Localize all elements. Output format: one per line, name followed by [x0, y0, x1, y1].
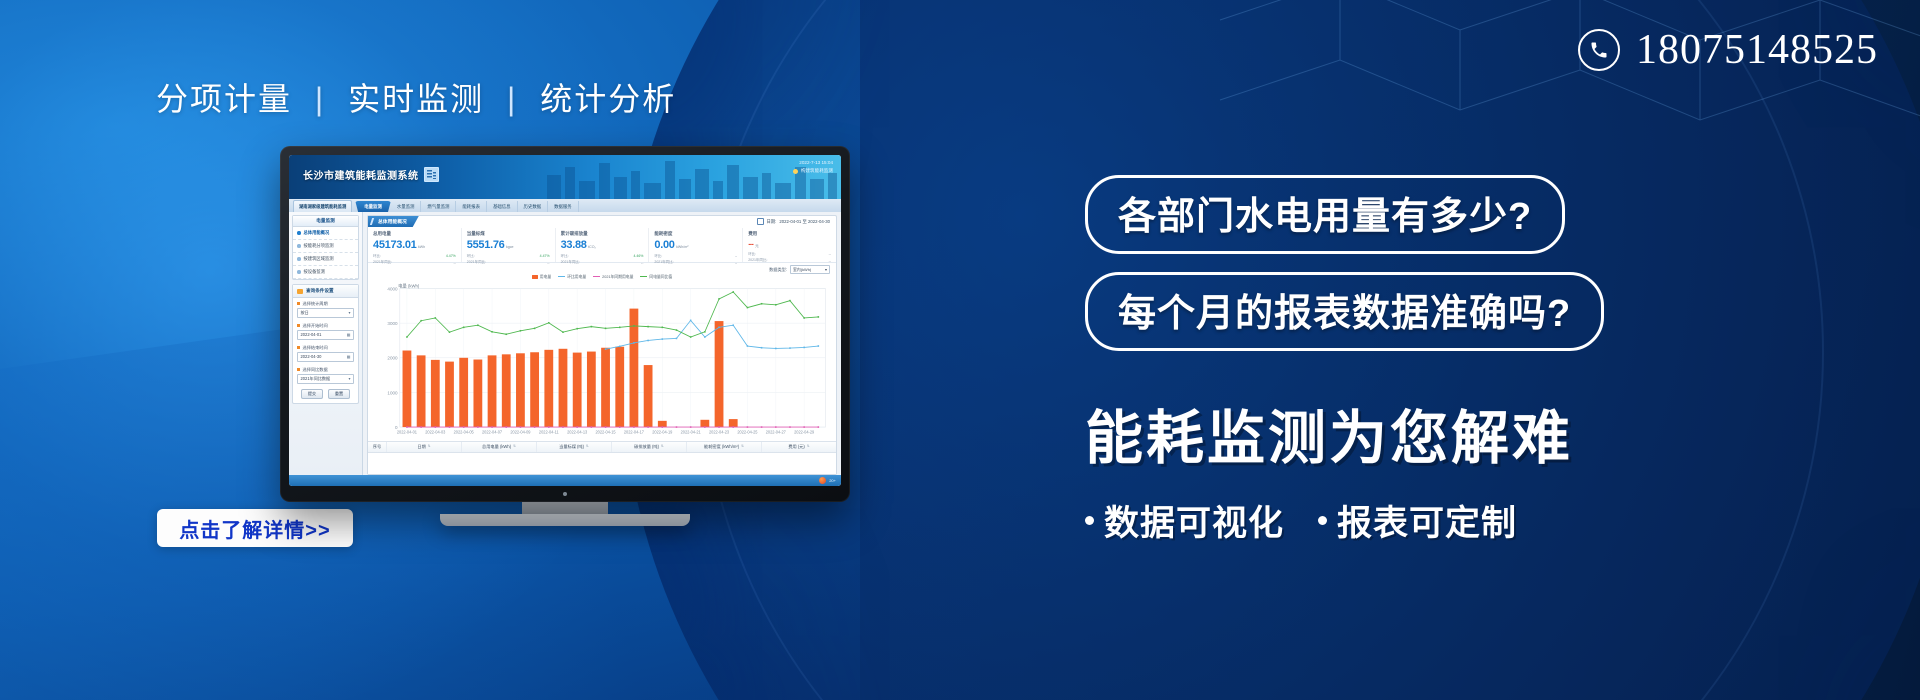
power-led-icon	[563, 492, 567, 496]
query-label-end: 选择结束时间	[293, 342, 358, 352]
kpi-ring-label: 环比:	[561, 254, 569, 259]
kpi-title: 当量标煤	[467, 231, 550, 237]
svg-text:2022-04-29: 2022-04-29	[794, 429, 815, 434]
query-settings-title: 查询条件设置	[293, 285, 358, 298]
chart-svg: 01000200030004000电量 (kWh)2022-04-012022-…	[374, 282, 830, 445]
sidebar-item-overview[interactable]: 总体用能概况	[293, 227, 358, 240]
bullet-icon	[297, 244, 301, 248]
chart-datatype-label: 数据类型:	[769, 267, 787, 273]
kpi-value: 45173.01	[373, 239, 416, 251]
kpi-ring-value: --	[735, 254, 737, 258]
slogan-item-0: 分项计量	[156, 81, 292, 117]
svg-text:2022-04-19: 2022-04-19	[652, 429, 673, 434]
svg-text:2022-04-05: 2022-04-05	[454, 429, 475, 434]
calendar-icon: ▦	[347, 354, 351, 359]
query-label-text: 选择统计周期	[303, 301, 328, 307]
legend-swatch-line-icon	[640, 276, 647, 277]
kpi-card-standard-coal: 当量标煤 5551.76kgce 环比:4.47% 2021年同比:--	[462, 228, 556, 262]
svg-text:2022-04-09: 2022-04-09	[510, 429, 531, 434]
table-header-label: 能耗密度 (kWh/m²)	[704, 444, 739, 450]
app-sidebar: 电量监测 总体用能概况 按能耗分项监测	[289, 212, 363, 475]
chevron-down-icon: ▾	[348, 310, 350, 315]
panel-date-range[interactable]: 日期: 2022-04-01 至 2022-04-30	[757, 218, 830, 225]
flag-icon	[297, 289, 303, 294]
table-header-label: 当量标煤 (吨)	[559, 444, 584, 450]
reset-button[interactable]: 重置	[328, 389, 350, 399]
query-value-text: 2022-04-30	[301, 354, 322, 359]
kpi-ring-label: 环比:	[373, 254, 381, 259]
monitor-screen: 长沙市建筑能耗监测系统 2022-7-13 15:04 构建筑能耗监测	[289, 155, 841, 486]
phone-icon	[1578, 29, 1620, 71]
panel-date-label: 日期:	[767, 219, 777, 225]
svg-text:2022-04-23: 2022-04-23	[709, 429, 730, 434]
table-header-label: 费用 (元)	[788, 444, 805, 450]
headline: 能耗监测为您解难	[1085, 391, 1875, 475]
legend-swatch-line-icon	[558, 276, 565, 277]
banner-slogan: 分项计量 | 实时监测 | 统计分析	[156, 74, 676, 120]
table-header-cell[interactable]: 序号	[368, 442, 387, 452]
legend-item-3[interactable]: 同电量同比值	[640, 275, 672, 280]
kpi-value: 5551.76	[467, 239, 505, 251]
query-label-period: 选择统计周期	[293, 298, 358, 308]
svg-text:电量 (kWh): 电量 (kWh)	[398, 283, 420, 290]
kpi-unit: 元	[755, 244, 759, 249]
table-header-label: 日期	[417, 444, 425, 450]
svg-text:2022-04-01: 2022-04-01	[397, 429, 418, 434]
kpi-card-energy-density: 能耗密度 0.00kWh/m² 环比:-- 2021年同比:--	[649, 228, 743, 262]
query-label-text: 选择结束时间	[303, 345, 328, 351]
learn-more-button[interactable]: 点击了解详情>>	[157, 509, 353, 547]
query-select-yoy[interactable]: 2021年同比数据 ▾	[297, 374, 354, 384]
table-header-label: 序号	[373, 444, 381, 450]
slogan-item-2: 统计分析	[540, 81, 676, 117]
svg-text:3000: 3000	[387, 321, 397, 327]
query-label-text: 选择开始时间	[303, 323, 328, 329]
user-icon	[793, 169, 798, 174]
contact-phone[interactable]: 18075148525	[1578, 26, 1878, 74]
kpi-title: 费用	[748, 231, 831, 237]
bullet-1: 报表可定制	[1318, 495, 1517, 546]
kpi-title: 能耗密度	[654, 231, 737, 237]
header-user-text: 构建筑能耗监测	[801, 167, 833, 175]
sidebar-item-label: 按能耗分项监测	[304, 243, 334, 249]
app-header: 长沙市建筑能耗监测系统 2022-7-13 15:04 构建筑能耗监测	[289, 155, 841, 199]
chart-datatype-select[interactable]: 室内(kWh) ▾	[790, 265, 830, 274]
nav-tab-history[interactable]: 历史数据	[518, 201, 549, 212]
query-value-text: 按日	[301, 310, 309, 316]
nav-tab-gas[interactable]: 燃气量监测	[421, 201, 456, 212]
svg-text:2022-04-27: 2022-04-27	[766, 429, 787, 434]
phone-number: 18075148525	[1636, 26, 1878, 74]
table-header-cell[interactable]: 日期⇅	[387, 442, 462, 452]
query-settings-card: 查询条件设置 选择统计周期 按日 ▾	[292, 284, 359, 404]
sidebar-menu-card: 电量监测 总体用能概况 按能耗分项监测	[292, 215, 359, 280]
kpi-title: 累计碳排放量	[561, 231, 644, 237]
chart-area: 数据类型: 室内(kWh) ▾ 用电量 环比用电量	[368, 263, 836, 442]
slogan-separator-0: |	[315, 81, 325, 118]
right-copy-block: 各部门水电用量有多少? 每个月的报表数据准确吗? 能耗监测为您解难 数据可视化 …	[1085, 175, 1875, 546]
query-settings-label: 查询条件设置	[306, 288, 334, 294]
square-bullet-icon	[297, 368, 300, 371]
sort-arrows-icon[interactable]: ⇅	[428, 445, 431, 448]
sort-arrows-icon[interactable]: ⇅	[513, 445, 516, 448]
app-title: 长沙市建筑能耗监测系统	[303, 167, 439, 182]
bullet-icon	[297, 270, 301, 274]
query-input-start-date[interactable]: 2022-04-01 ▦	[297, 330, 354, 340]
kpi-ring-label: 环比:	[467, 254, 475, 259]
energy-monitoring-app: 长沙市建筑能耗监测系统 2022-7-13 15:04 构建筑能耗监测	[289, 155, 841, 486]
square-bullet-icon	[297, 302, 300, 305]
table-header-cell[interactable]: 能耗密度 (kWh/m²)⇅	[687, 442, 762, 452]
svg-text:2000: 2000	[387, 356, 397, 362]
query-select-period[interactable]: 按日 ▾	[297, 308, 354, 318]
legend-item-0[interactable]: 用电量	[532, 275, 551, 280]
nav-tab-water[interactable]: 水量监测	[391, 201, 422, 212]
calendar-icon	[757, 218, 764, 225]
monitor-mockup: 长沙市建筑能耗监测系统 2022-7-13 15:04 构建筑能耗监测	[280, 146, 850, 502]
header-user[interactable]: 构建筑能耗监测	[793, 167, 833, 175]
table-header-cell[interactable]: 总用电量 (kWh)⇅	[462, 442, 537, 452]
legend-swatch-line-icon	[593, 276, 600, 277]
nav-brand-tab[interactable]: 湖南湖家级建筑能耗监测	[293, 200, 352, 212]
overview-panel: 总体用能概况 日期: 2022-04-01 至 2022-04-30 总用	[367, 215, 837, 475]
app-title-text: 长沙市建筑能耗监测系统	[303, 167, 419, 182]
feature-bullets: 数据可视化 报表可定制	[1085, 495, 1875, 546]
table-header-cell[interactable]: 当量标煤 (吨)⇅	[537, 442, 612, 452]
bullet-dot-icon	[1318, 516, 1327, 525]
query-label-yoy: 选择同比数据	[293, 364, 358, 374]
bullet-icon	[297, 231, 301, 235]
bullet-label-1: 报表可定制	[1337, 495, 1517, 546]
svg-text:4000: 4000	[387, 286, 397, 292]
legend-item-1[interactable]: 环比用电量	[558, 275, 586, 280]
sidebar-item-label: 按建筑区域监测	[304, 256, 334, 262]
submit-button[interactable]: 提交	[301, 389, 323, 399]
chart-toolbar: 数据类型: 室内(kWh) ▾	[374, 265, 830, 274]
query-value-text: 2021年同比数据	[301, 376, 331, 382]
legend-label: 用电量	[540, 275, 551, 279]
chart-legend: 用电量 环比用电量 2021年同期用电量 同电量同比值	[374, 275, 830, 280]
kpi-ring-label: 环比:	[748, 252, 756, 257]
bullet-label-0: 数据可视化	[1104, 495, 1284, 546]
panel-title: 总体用能概况	[368, 216, 419, 227]
sidebar-item-by-area[interactable]: 按建筑区域监测	[293, 253, 358, 266]
header-time: 2022-7-13 15:04	[793, 159, 833, 167]
kpi-unit: kWh	[418, 245, 425, 249]
chart-plot: 01000200030004000电量 (kWh)2022-04-012022-…	[374, 282, 830, 445]
app-body: 电量监测 总体用能概况 按能耗分项监测	[289, 212, 841, 475]
panel-date-value: 2022-04-01 至 2022-04-30	[779, 219, 830, 225]
bullet-icon	[297, 257, 301, 261]
kpi-unit: kgce	[506, 245, 514, 249]
query-label-text: 选择同比数据	[303, 367, 328, 373]
kpi-title: 总用电量	[373, 231, 456, 237]
kpi-value: 33.88	[561, 239, 587, 251]
legend-label: 环比用电量	[567, 275, 586, 279]
app-taskbar: 20+	[289, 475, 841, 486]
slogan-separator-1: |	[507, 81, 517, 118]
learn-more-label: 点击了解详情>>	[179, 514, 330, 543]
monitor-stand-base	[440, 514, 690, 526]
nav-tab-electricity[interactable]: 电量监测	[355, 201, 391, 212]
sidebar-section-title: 电量监测	[293, 216, 358, 227]
sidebar-item-by-category[interactable]: 按能耗分项监测	[293, 240, 358, 253]
table-header-cell[interactable]: 碳排放量 (吨)⇅	[612, 442, 687, 452]
svg-text:2022-04-07: 2022-04-07	[482, 429, 503, 434]
kpi-ring-label: 环比:	[654, 254, 662, 259]
kpi-unit: kWh/m²	[676, 245, 688, 249]
kpi-yoy-value: --	[829, 259, 831, 263]
monitor-chin	[280, 486, 850, 502]
nav-tab-data-service[interactable]: 数据服务	[548, 201, 579, 212]
kpi-value: 0.00	[654, 239, 674, 251]
table-body	[368, 453, 836, 465]
query-label-start: 选择开始时间	[293, 320, 358, 330]
sidebar-item-by-device[interactable]: 按设备监测	[293, 266, 358, 279]
app-main: 总体用能概况 日期: 2022-04-01 至 2022-04-30 总用	[363, 212, 841, 475]
legend-label: 2021年同期用电量	[602, 275, 633, 279]
browser-icon[interactable]	[819, 477, 826, 484]
monitor-bezel: 长沙市建筑能耗监测系统 2022-7-13 15:04 构建筑能耗监测	[280, 146, 850, 502]
kpi-card-total-electricity: 总用电量 45173.01kWh 环比:4.47% 2021年同比:--	[368, 228, 462, 262]
building-icon	[424, 167, 439, 182]
table-header-label: 碳排放量 (吨)	[634, 444, 659, 450]
svg-text:2022-04-15: 2022-04-15	[595, 429, 616, 434]
svg-text:2022-04-21: 2022-04-21	[681, 429, 702, 434]
svg-text:1000: 1000	[387, 390, 397, 396]
sort-arrows-icon[interactable]: ⇅	[661, 445, 664, 448]
svg-text:2022-04-11: 2022-04-11	[539, 429, 560, 434]
sort-arrows-icon[interactable]: ⇅	[741, 445, 744, 448]
chevron-down-icon: ▾	[825, 267, 827, 272]
svg-text:2022-04-17: 2022-04-17	[624, 429, 645, 434]
bullet-0: 数据可视化	[1085, 495, 1284, 546]
bullet-dot-icon	[1085, 516, 1094, 525]
sidebar-item-label: 总体用能概况	[304, 230, 330, 236]
legend-item-2[interactable]: 2021年同期用电量	[593, 275, 633, 280]
table-header-cell[interactable]: 费用 (元)⇅	[762, 442, 836, 452]
nav-tab-reports[interactable]: 能耗报表	[456, 201, 487, 212]
data-table: 序号日期⇅总用电量 (kWh)⇅当量标煤 (吨)⇅碳排放量 (吨)⇅能耗密度 (…	[368, 441, 836, 474]
question-pill-0: 各部门水电用量有多少?	[1085, 175, 1565, 254]
chevron-down-icon: ▾	[348, 376, 350, 381]
query-buttons: 提交 重置	[293, 386, 358, 403]
kpi-ring-value: --	[829, 252, 831, 256]
query-input-end-date[interactable]: 2022-04-30 ▦	[297, 352, 354, 362]
svg-text:2022-04-25: 2022-04-25	[737, 429, 758, 434]
app-nav: 湖南湖家级建筑能耗监测 电量监测 水量监测 燃气量监测 能耗报表 基础信息 历史…	[289, 199, 841, 213]
kpi-ring-value: 4.47%	[540, 254, 550, 258]
svg-text:2022-04-03: 2022-04-03	[425, 429, 446, 434]
table-header-label: 总用电量 (kWh)	[482, 444, 511, 450]
question-pill-1: 每个月的报表数据准确吗?	[1085, 272, 1604, 351]
taskbar-badge: 20+	[829, 478, 836, 483]
square-bullet-icon	[297, 324, 300, 327]
legend-label: 同电量同比值	[649, 275, 672, 279]
energy-monitoring-banner: 分项计量 | 实时监测 | 统计分析 18075148525 点击了解详情>> …	[0, 0, 1920, 700]
kpi-card-carbon-emission: 累计碳排放量 33.88tCO₂ 环比:4.46% 2021年同比:--	[556, 228, 650, 262]
query-value-text: 2022-04-01	[301, 332, 322, 337]
kpi-card-cost: 费用 --元 环比:-- 2021年同比:--	[743, 228, 836, 262]
square-bullet-icon	[297, 346, 300, 349]
kpi-ring-value: 4.47%	[446, 254, 456, 258]
sort-arrows-icon[interactable]: ⇅	[586, 445, 589, 448]
kpi-row: 总用电量 45173.01kWh 环比:4.47% 2021年同比:-- 当量标…	[368, 228, 836, 263]
table-header-row: 序号日期⇅总用电量 (kWh)⇅当量标煤 (吨)⇅碳排放量 (吨)⇅能耗密度 (…	[368, 442, 836, 453]
svg-text:2022-04-13: 2022-04-13	[567, 429, 588, 434]
chart-datatype-value: 室内(kWh)	[793, 267, 811, 273]
kpi-ring-value: 4.46%	[633, 254, 643, 258]
sort-arrows-icon[interactable]: ⇅	[807, 445, 810, 448]
nav-tab-basic-info[interactable]: 基础信息	[487, 201, 518, 212]
slogan-item-1: 实时监测	[348, 81, 484, 117]
kpi-unit: tCO₂	[588, 245, 596, 249]
legend-swatch-bar-icon	[532, 275, 538, 279]
kpi-value: --	[748, 239, 753, 249]
sidebar-item-label: 按设备监测	[304, 269, 325, 275]
calendar-icon: ▦	[347, 332, 351, 337]
app-header-right: 2022-7-13 15:04 构建筑能耗监测	[793, 159, 833, 176]
